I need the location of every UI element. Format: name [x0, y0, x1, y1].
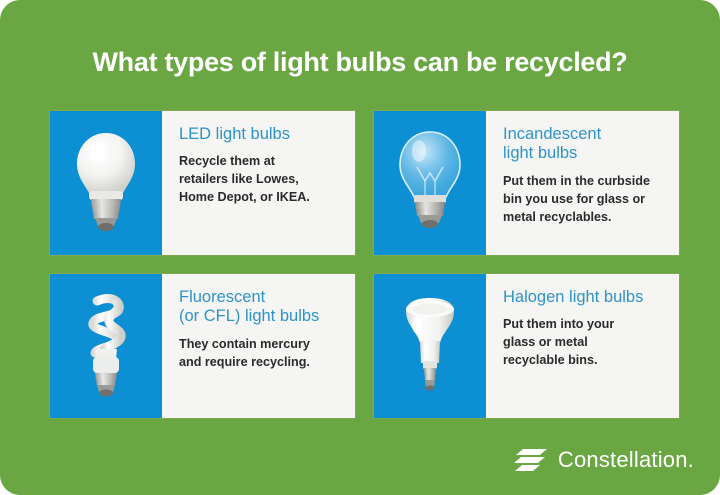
incandescent-card-body: Incandescent light bulbs Put them in the… [486, 111, 679, 255]
fluorescent-card-body: Fluorescent (or CFL) light bulbs They co… [162, 274, 355, 418]
card-text-led: Recycle them at retailers like Lowes, Ho… [179, 153, 343, 207]
bulb-card-led: LED light bulbs Recycle them at retailer… [49, 110, 356, 256]
cfl-bulb-icon [71, 287, 141, 405]
halogen-bulb-image [374, 274, 486, 418]
constellation-logo: Constellation. [514, 447, 694, 473]
cfl-bulb-image [50, 274, 162, 418]
constellation-wordmark: Constellation. [558, 447, 694, 473]
led-bulb-image [50, 111, 162, 255]
card-title-fluorescent: Fluorescent (or CFL) light bulbs [179, 288, 343, 327]
bulb-card-halogen: Halogen light bulbs Put them into your g… [373, 273, 680, 419]
bulb-card-grid: LED light bulbs Recycle them at retailer… [49, 110, 671, 419]
incandescent-bulb-icon [395, 127, 465, 239]
bulb-card-fluorescent: Fluorescent (or CFL) light bulbs They co… [49, 273, 356, 419]
card-text-fluorescent: They contain mercury and require recycli… [179, 336, 343, 372]
infographic-panel: What types of light bulbs can be recycle… [0, 0, 720, 495]
led-card-body: LED light bulbs Recycle them at retailer… [162, 111, 355, 255]
card-title-incandescent: Incandescent light bulbs [503, 125, 667, 164]
halogen-bulb-icon [395, 287, 465, 405]
constellation-stripes-icon [514, 447, 548, 473]
bulb-card-incandescent: Incandescent light bulbs Put them in the… [373, 110, 680, 256]
incandescent-bulb-image [374, 111, 486, 255]
halogen-card-body: Halogen light bulbs Put them into your g… [486, 274, 679, 418]
card-title-halogen: Halogen light bulbs [503, 288, 667, 307]
led-bulb-icon [71, 127, 141, 239]
card-text-halogen: Put them into your glass or metal recycl… [503, 316, 667, 370]
card-text-incandescent: Put them in the curbside bin you use for… [503, 173, 667, 227]
page-title: What types of light bulbs can be recycle… [0, 48, 720, 78]
card-title-led: LED light bulbs [179, 125, 343, 144]
